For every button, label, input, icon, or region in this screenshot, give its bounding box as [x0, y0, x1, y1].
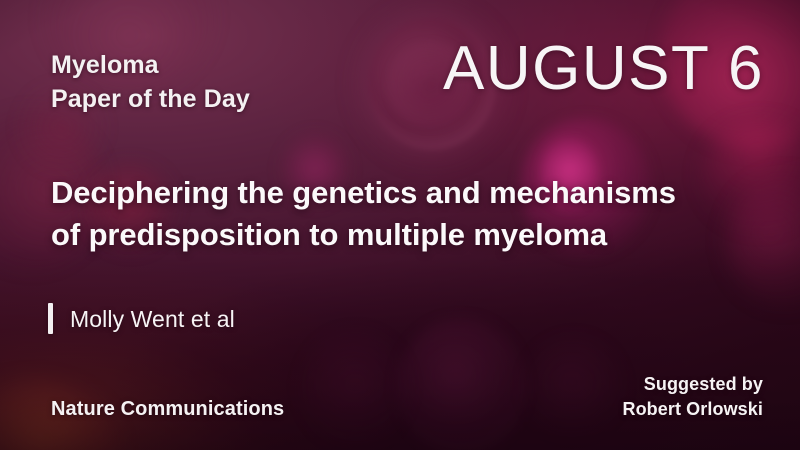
date-label: AUGUST 6	[443, 36, 764, 102]
paper-title-line-1: Deciphering the genetics and mechanisms	[51, 175, 676, 210]
paper-title: Deciphering the genetics and mechanisms …	[51, 172, 741, 256]
brand-kicker-line-1: Myeloma	[51, 51, 159, 79]
suggested-by-prefix: Suggested by	[622, 372, 763, 397]
suggested-by-block: Suggested by Robert Orlowski	[622, 372, 763, 422]
paper-title-line-2: of predisposition to multiple myeloma	[51, 214, 741, 256]
journal-name: Nature Communications	[51, 396, 284, 422]
author-accent-bar	[48, 303, 53, 334]
brand-kicker-line-2: Paper of the Day	[51, 85, 250, 113]
content-layer: Myeloma Paper of the Day AUGUST 6 Deciph…	[0, 0, 800, 450]
paper-of-the-day-card: Myeloma Paper of the Day AUGUST 6 Deciph…	[0, 0, 800, 450]
author-row: Molly Went et al	[48, 303, 235, 334]
suggested-by-person: Robert Orlowski	[622, 397, 763, 422]
author-names: Molly Went et al	[70, 305, 235, 333]
brand-kicker: Myeloma Paper of the Day	[51, 48, 250, 116]
